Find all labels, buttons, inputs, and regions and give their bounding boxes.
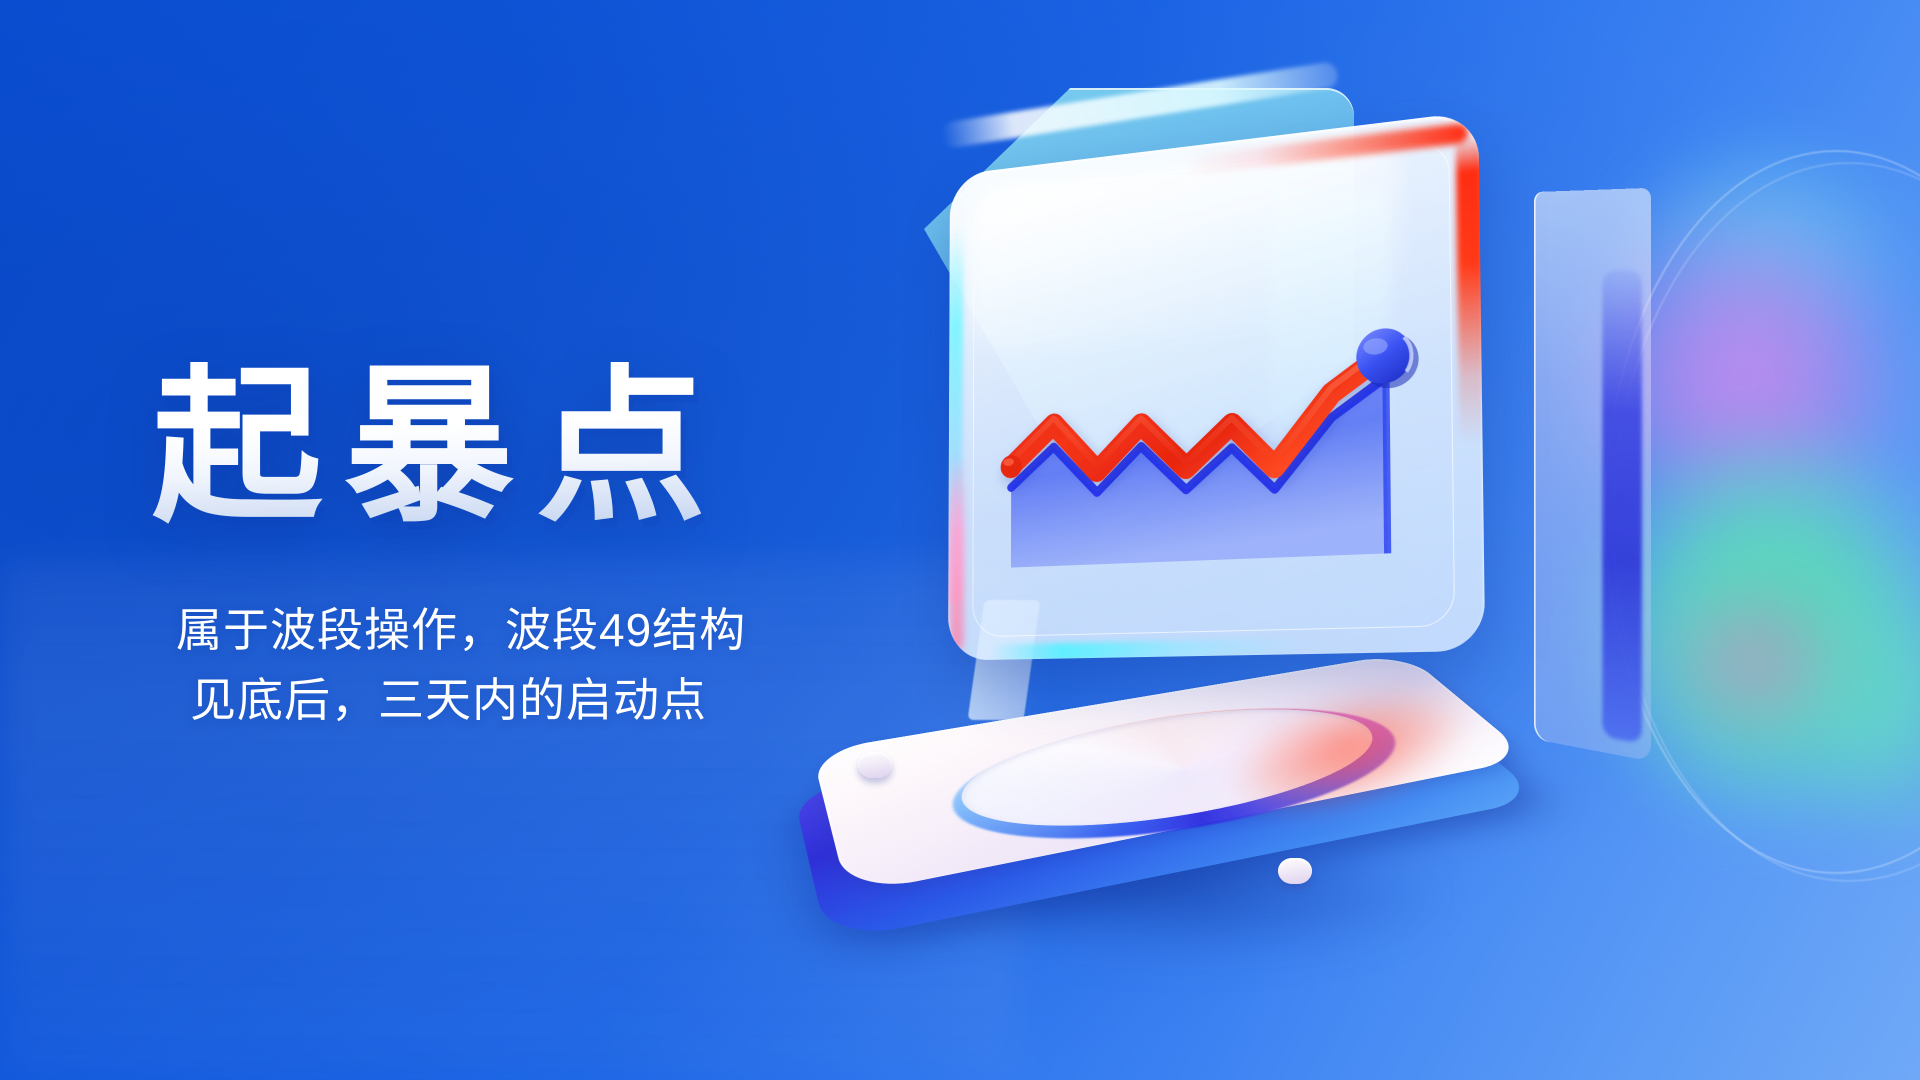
monitor-screen <box>948 111 1485 661</box>
subtitle-line-1: 属于波段操作，波段49结构 <box>176 596 836 666</box>
subtitle-line-2: 见底后，三天内的启动点 <box>176 666 836 736</box>
pedestal-peg <box>858 752 892 778</box>
pedestal-peg <box>1278 858 1312 884</box>
page-title: 起暴点 <box>152 362 728 532</box>
screen-rim-red <box>1456 133 1486 445</box>
chart-illustration <box>930 40 1920 1040</box>
copy-block: 起暴点 属于波段操作，波段49结构 见底后，三天内的启动点 <box>0 0 860 1080</box>
screen-glass-panel <box>948 111 1485 661</box>
hero-banner: 起暴点 属于波段操作，波段49结构 见底后，三天内的启动点 <box>0 0 1920 1080</box>
glass-fin-blue-edge <box>1602 270 1642 744</box>
chart-marker-dropline <box>1386 377 1388 553</box>
line-chart-graphic <box>948 111 1485 661</box>
screen-rim-pink <box>950 453 965 652</box>
subtitle: 属于波段操作，波段49结构 见底后，三天内的启动点 <box>176 596 836 736</box>
